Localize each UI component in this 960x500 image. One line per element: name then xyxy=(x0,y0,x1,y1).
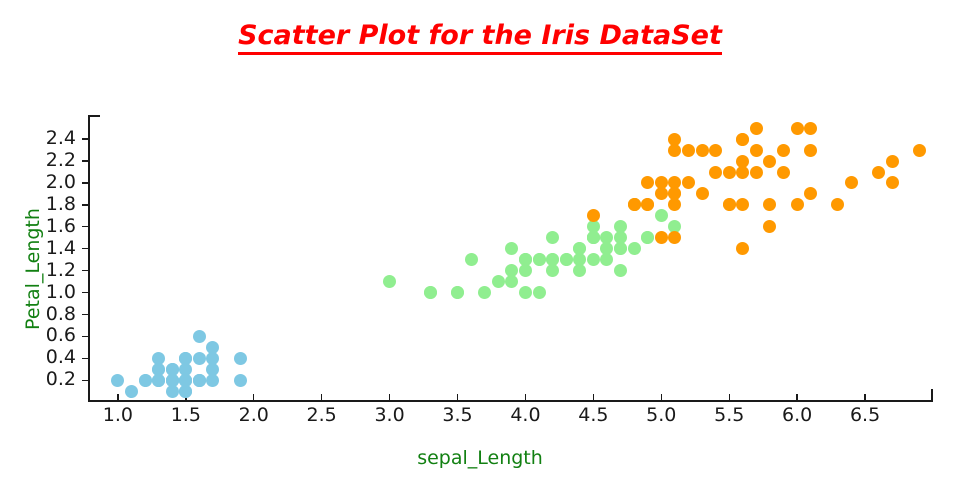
y-tick xyxy=(82,160,88,161)
x-tick-label: 6.5 xyxy=(835,404,895,426)
data-point-virginica xyxy=(682,144,695,157)
x-tick-label: 3.0 xyxy=(360,404,420,426)
x-tick-label: 1.0 xyxy=(88,404,148,426)
y-tick-label: 2.4 xyxy=(22,127,76,149)
y-tick xyxy=(82,204,88,205)
data-point-setosa xyxy=(139,374,152,387)
data-point-virginica xyxy=(655,231,668,244)
scatter-plot-figure: Scatter Plot for the Iris DataSet 1.01.5… xyxy=(0,0,960,500)
y-axis-label: Petal_Length xyxy=(22,199,44,339)
y-tick-label: 2.0 xyxy=(22,171,76,193)
data-point-virginica xyxy=(709,144,722,157)
data-point-virginica xyxy=(804,144,817,157)
data-point-virginica xyxy=(736,155,749,168)
x-axis-end-cap xyxy=(931,389,933,401)
x-tick-label: 5.0 xyxy=(631,404,691,426)
data-point-virginica xyxy=(696,187,709,200)
x-tick xyxy=(389,394,390,400)
data-point-virginica xyxy=(668,144,681,157)
data-point-versicolor xyxy=(519,264,532,277)
data-point-virginica xyxy=(723,166,736,179)
x-tick xyxy=(661,394,662,400)
y-axis-end-cap xyxy=(88,115,100,117)
x-tick-label: 3.5 xyxy=(428,404,488,426)
y-tick-label: 0.2 xyxy=(22,368,76,390)
y-tick xyxy=(82,138,88,139)
x-tick-label: 2.0 xyxy=(224,404,284,426)
data-point-virginica xyxy=(777,144,790,157)
data-point-setosa xyxy=(193,352,206,365)
x-tick xyxy=(525,394,526,400)
data-point-virginica xyxy=(777,166,790,179)
data-point-versicolor xyxy=(424,286,437,299)
data-point-setosa xyxy=(125,385,138,398)
x-axis-line xyxy=(88,400,933,402)
x-tick xyxy=(796,394,797,400)
data-point-virginica xyxy=(791,198,804,211)
y-tick xyxy=(82,336,88,337)
x-tick xyxy=(253,394,254,400)
y-axis-line xyxy=(88,115,90,400)
data-point-versicolor xyxy=(465,253,478,266)
data-point-setosa xyxy=(234,352,247,365)
y-tick xyxy=(82,292,88,293)
y-tick xyxy=(82,380,88,381)
data-point-versicolor xyxy=(533,286,546,299)
x-tick xyxy=(457,394,458,400)
data-point-versicolor xyxy=(587,253,600,266)
data-point-virginica xyxy=(763,155,776,168)
data-point-virginica xyxy=(750,144,763,157)
data-point-setosa xyxy=(193,374,206,387)
y-tick xyxy=(82,270,88,271)
y-tick-label: 0.4 xyxy=(22,346,76,368)
data-point-virginica xyxy=(696,144,709,157)
y-tick-label: 2.2 xyxy=(22,149,76,171)
chart-title-text: Scatter Plot for the Iris DataSet xyxy=(238,20,722,55)
data-point-virginica xyxy=(750,166,763,179)
data-point-setosa xyxy=(234,374,247,387)
y-tick xyxy=(82,358,88,359)
data-point-setosa xyxy=(179,374,192,387)
data-point-setosa xyxy=(193,330,206,343)
data-point-versicolor xyxy=(628,242,641,255)
data-point-virginica xyxy=(750,122,763,135)
data-point-virginica xyxy=(804,122,817,135)
data-point-versicolor xyxy=(492,275,505,288)
y-tick xyxy=(82,182,88,183)
x-tick-label: 4.5 xyxy=(563,404,623,426)
data-point-virginica xyxy=(736,133,749,146)
x-tick-label: 5.5 xyxy=(699,404,759,426)
y-tick xyxy=(82,248,88,249)
data-point-setosa xyxy=(166,374,179,387)
data-point-versicolor xyxy=(519,286,532,299)
x-tick xyxy=(864,394,865,400)
page-title: Scatter Plot for the Iris DataSet xyxy=(0,20,960,51)
x-tick xyxy=(593,394,594,400)
x-axis-label: sepal_Length xyxy=(0,447,960,469)
data-point-virginica xyxy=(628,198,641,211)
x-tick-label: 6.0 xyxy=(767,404,827,426)
data-point-setosa xyxy=(152,374,165,387)
x-tick-label: 2.5 xyxy=(292,404,352,426)
data-point-versicolor xyxy=(560,253,573,266)
data-point-virginica xyxy=(872,166,885,179)
x-tick xyxy=(321,394,322,400)
data-point-virginica xyxy=(886,155,899,168)
x-tick-label: 4.0 xyxy=(495,404,555,426)
data-point-versicolor xyxy=(451,286,464,299)
y-tick xyxy=(82,314,88,315)
x-tick xyxy=(117,394,118,400)
x-tick-label: 1.5 xyxy=(156,404,216,426)
x-tick xyxy=(729,394,730,400)
data-point-virginica xyxy=(913,144,926,157)
data-point-virginica xyxy=(791,122,804,135)
y-tick xyxy=(82,226,88,227)
data-point-versicolor xyxy=(533,253,546,266)
data-point-virginica xyxy=(709,166,722,179)
